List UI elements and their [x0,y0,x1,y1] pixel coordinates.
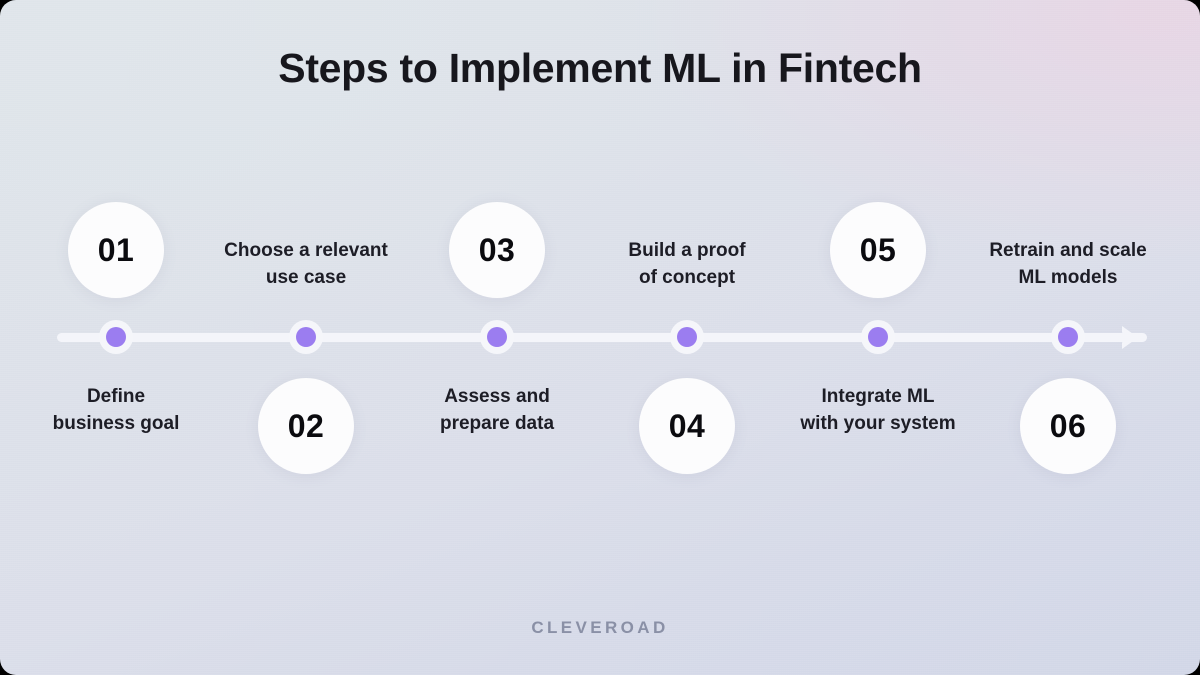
step-label-06: Retrain and scale ML models [938,238,1198,292]
timeline-dot-icon [868,327,888,347]
step-number-circle-03: 03 [449,202,545,298]
timeline-dot-icon [296,327,316,347]
timeline-node-04 [670,320,704,354]
step-number-circle-05: 05 [830,202,926,298]
timeline-axis [57,333,1147,342]
step-number-circle-02: 02 [258,378,354,474]
step-label-01: Define business goal [0,384,246,438]
brand-logo-text: CLEVEROAD [0,618,1200,638]
timeline-node-02 [289,320,323,354]
timeline-node-05 [861,320,895,354]
step-number-circle-04: 04 [639,378,735,474]
step-label-02: Choose a relevant use case [176,238,436,292]
arrow-right-icon [1106,316,1150,360]
timeline-dot-icon [677,327,697,347]
step-number-circle-01: 01 [68,202,164,298]
timeline-node-01 [99,320,133,354]
page-title: Steps to Implement ML in Fintech [0,44,1200,93]
timeline-dot-icon [106,327,126,347]
timeline-dot-icon [487,327,507,347]
step-number-circle-06: 06 [1020,378,1116,474]
timeline-node-03 [480,320,514,354]
step-label-05: Integrate ML with your system [748,384,1008,438]
step-label-03: Assess and prepare data [367,384,627,438]
timeline-dot-icon [1058,327,1078,347]
step-label-04: Build a proof of concept [557,238,817,292]
timeline-node-06 [1051,320,1085,354]
infographic-canvas: Steps to Implement ML in Fintech 01Defin… [0,0,1200,675]
